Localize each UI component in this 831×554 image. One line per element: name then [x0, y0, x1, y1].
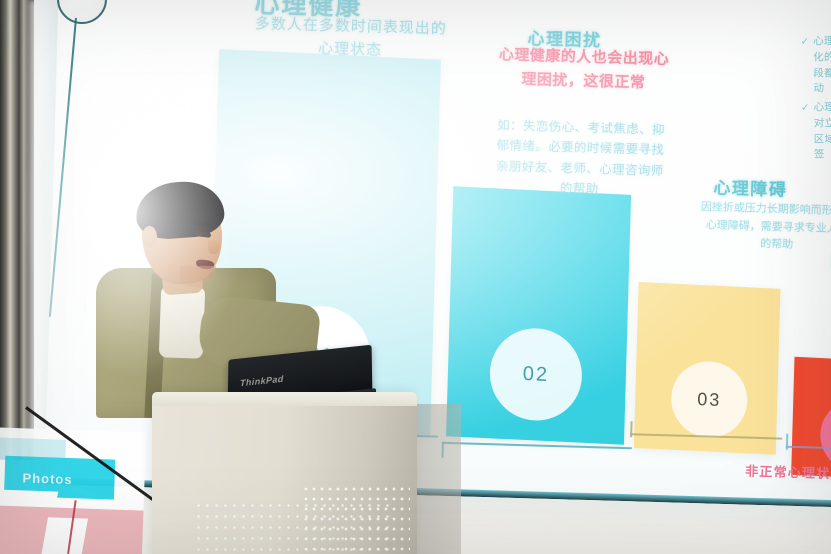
slide-panel-03: 03: [634, 282, 781, 455]
presenter-ear: [142, 226, 157, 248]
slide-subtitle: 多数人在多数时间表现出的 心理状态: [225, 11, 476, 65]
podium-top-surface: [152, 392, 417, 406]
presenter-chin-shadow: [180, 266, 216, 288]
column3-body: 因挫折或压力长期影响而形成的 心理障碍，需要寻求专业人员 的帮助: [684, 199, 831, 257]
bullet-text: 心理状态是可逆的，动态变化的，每个人在人生不同阶段都可能经历心理状态的波动: [813, 34, 831, 98]
presenter-nose: [208, 240, 220, 254]
bullet-item: ✓ 心理状态是可逆的，动态变化的，每个人在人生不同阶段都可能经历心理状态的波动: [801, 34, 831, 98]
inner-shirt: [159, 285, 205, 358]
pillar-light-glow: [30, 0, 56, 470]
panel-number-03: 03: [670, 360, 748, 440]
room-pillar: [0, 0, 34, 460]
podium: [152, 392, 417, 554]
slide-panel-02: 02: [446, 186, 631, 444]
mini-screen-text: Photos: [22, 470, 73, 487]
screenshot-root: 01 02 03 04 心理健康 多数人在多数时间表现出的 心理状态: [0, 0, 831, 554]
check-icon: ✓: [801, 35, 810, 50]
column4-body: 如：抑郁症、双相 障碍等重性精神 疾病: [820, 273, 831, 327]
bullet-item: ✓ 心理健康和心理不健康不是对立的，大多数人处于中间区域，不能简单地个人贴标签: [801, 100, 831, 164]
column2-lead: 心理健康的人也会出现心 理困扰，这很正常: [474, 43, 693, 97]
side-wall-panel: [411, 404, 461, 554]
secondary-display: Photos: [0, 427, 146, 554]
bullet-text: 心理健康和心理不健康不是对立的，大多数人处于中间区域，不能简单地个人贴标签: [814, 100, 831, 164]
slide-bullet-list: ✓ 心理状态是可逆的，动态变化的，每个人在人生不同阶段都可能经历心理状态的波动 …: [801, 34, 831, 167]
check-icon: ✓: [801, 101, 810, 116]
axis-label-abnormal: 非正常心理状态: [745, 461, 831, 483]
panel-number-02: 02: [489, 326, 584, 422]
mini-shape-e: [41, 517, 88, 554]
podium-perforation-pattern-dense: [302, 484, 410, 554]
column2-body: 如：失恋伤心、考试焦虑、抑 郁情绪。必要的时候需要寻找 亲朋好友、老师、心理咨询…: [469, 115, 691, 202]
column3-heading: 心理障碍: [713, 174, 788, 201]
